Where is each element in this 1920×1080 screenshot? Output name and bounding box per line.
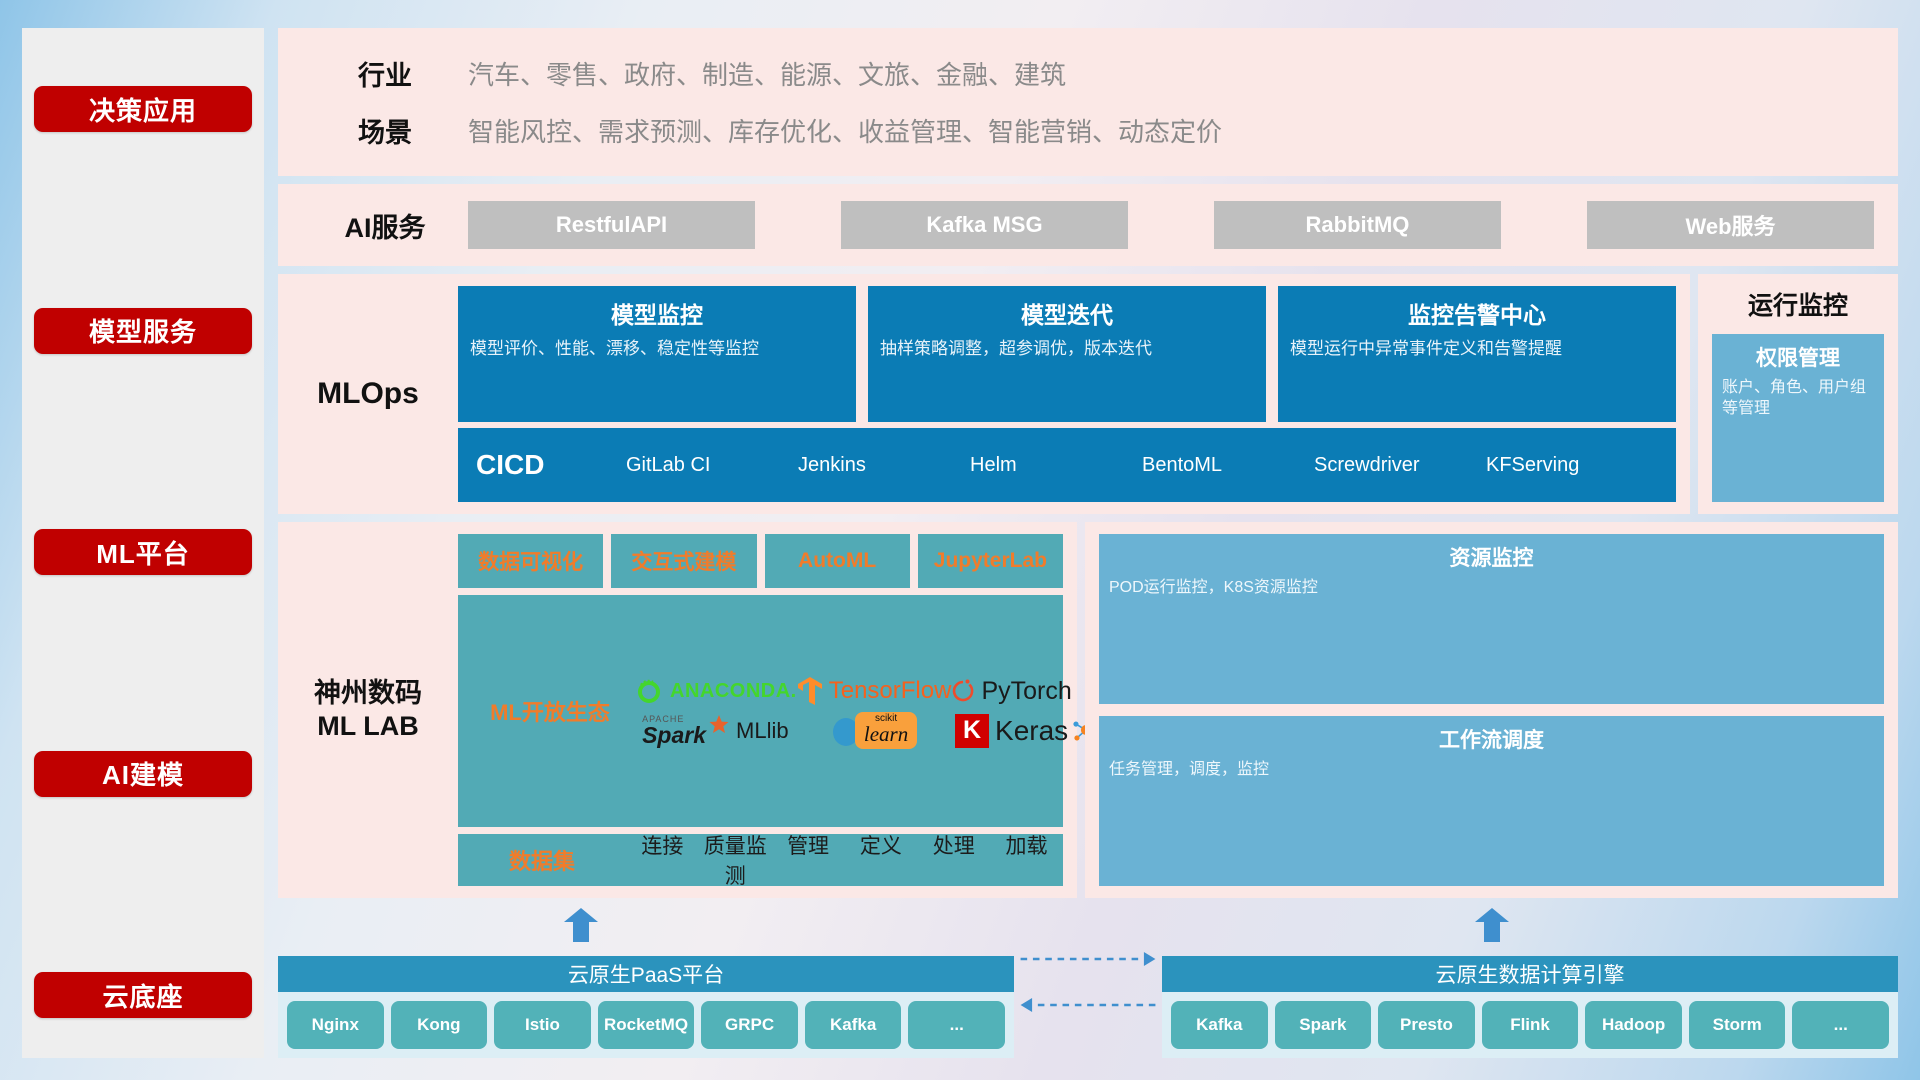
- lab-dataset-items: 连接 质量监测 管理 定义 处理 加载: [626, 830, 1063, 890]
- cloud-link-arrows: [1014, 901, 1162, 1058]
- mlops-card-alert-center[interactable]: 监控告警中心 模型运行中异常事件定义和告警提醒: [1278, 286, 1676, 422]
- lab-ecosystem-logos: ANACONDA. TensorFlow: [634, 671, 1055, 751]
- scikit-learn-logo: scikit learn: [831, 712, 917, 749]
- monitor-card-title: 工作流调度: [1109, 724, 1874, 754]
- lab-dataset-label: 数据集: [458, 844, 626, 876]
- mllib-logo-text: MLlib: [736, 718, 789, 744]
- mlops-body: 模型监控 模型评价、性能、漂移、稳定性等监控 模型迭代 抽样策略调整，超参调优，…: [458, 286, 1676, 502]
- ai-service-chip-kafka-msg[interactable]: Kafka MSG: [841, 201, 1128, 249]
- layer-rail: 决策应用 模型服务 ML平台 AI建模 云底座: [22, 28, 264, 1058]
- app-key-industry: 行业: [302, 54, 468, 93]
- rail-item-ai-modeling[interactable]: AI建模: [34, 751, 252, 797]
- band-mlops-wrapper: MLOps 模型监控 模型评价、性能、漂移、稳定性等监控 模型迭代 抽样策略调整…: [278, 274, 1898, 514]
- mlops-card-model-iteration[interactable]: 模型迭代 抽样策略调整，超参调优，版本迭代: [868, 286, 1266, 422]
- tensorflow-logo-text: TensorFlow: [829, 677, 952, 705]
- pytorch-logo-text: PyTorch: [981, 677, 1071, 706]
- cicd-items: GitLab CI Jenkins Helm BentoML Screwdriv…: [626, 454, 1658, 477]
- compute-chip-storm[interactable]: Storm: [1689, 1001, 1786, 1049]
- tensorflow-logo: TensorFlow: [797, 676, 952, 706]
- rail-item-model-service[interactable]: 模型服务: [34, 308, 252, 354]
- cicd-item-helm[interactable]: Helm: [970, 454, 1142, 477]
- lab-tool-interactive-modeling[interactable]: 交互式建模: [611, 534, 756, 588]
- dataset-item-process[interactable]: 处理: [917, 830, 990, 890]
- ai-service-chip-web-service[interactable]: Web服务: [1587, 201, 1874, 249]
- dataset-item-manage[interactable]: 管理: [772, 830, 845, 890]
- keras-logo-mark: K: [963, 716, 981, 745]
- pytorch-logo: PyTorch: [951, 676, 1071, 706]
- app-key-scenario: 场景: [302, 111, 468, 150]
- cloud-compute-chips: Kafka Spark Presto Flink Hadoop Storm ..…: [1162, 992, 1898, 1058]
- monitor-title: 运行监控: [1712, 286, 1884, 322]
- dataset-item-load[interactable]: 加载: [990, 830, 1063, 890]
- arrow-up-compute-icon: [1475, 908, 1509, 942]
- cloud-chip-kong[interactable]: Kong: [391, 1001, 488, 1049]
- monitor-card-title: 权限管理: [1722, 342, 1874, 372]
- monitor-card-resource[interactable]: 资源监控 POD运行监控，K8S资源监控: [1099, 534, 1884, 704]
- cicd-item-bentoml[interactable]: BentoML: [1142, 454, 1314, 477]
- mlops-card-desc: 模型评价、性能、漂移、稳定性等监控: [470, 338, 844, 360]
- ai-service-chip-rabbitmq[interactable]: RabbitMQ: [1214, 201, 1501, 249]
- dataset-item-quality[interactable]: 质量监测: [699, 830, 772, 890]
- lab-label-line2: ML LAB: [317, 710, 419, 743]
- cloud-paas-title: 云原生PaaS平台: [278, 956, 1014, 992]
- compute-chip-hadoop[interactable]: Hadoop: [1585, 1001, 1682, 1049]
- anaconda-mark-icon: [634, 676, 664, 706]
- band-ai-modeling: 神州数码 ML LAB 数据可视化 交互式建模 AutoML JupyterLa…: [278, 522, 1077, 898]
- lab-tool-automl[interactable]: AutoML: [765, 534, 910, 588]
- cloud-paas-box: 云原生PaaS平台 Nginx Kong Istio RocketMQ GRPC…: [278, 956, 1014, 1058]
- monitor-column-top: 运行监控 权限管理 账户、角色、用户组等管理: [1698, 274, 1898, 514]
- lab-ecosystem: ML开放生态 ANACONDA.: [458, 595, 1063, 827]
- app-row-scenario: 场景 智能风控、需求预测、库存优化、收益管理、智能营销、动态定价: [302, 111, 1874, 150]
- cloud-chip-istio[interactable]: Istio: [494, 1001, 591, 1049]
- cicd-item-gitlab-ci[interactable]: GitLab CI: [626, 454, 798, 477]
- lab-ecosystem-label: ML开放生态: [466, 695, 634, 727]
- lab-label-line1: 神州数码: [314, 677, 422, 710]
- dataset-item-define[interactable]: 定义: [844, 830, 917, 890]
- lab-body: 数据可视化 交互式建模 AutoML JupyterLab ML开放生态: [458, 534, 1063, 886]
- mlops-card-desc: 抽样策略调整，超参调优，版本迭代: [880, 338, 1254, 360]
- keras-mark-icon: K: [955, 714, 989, 748]
- spark-star-icon: [708, 714, 730, 736]
- band-decision-apps: 行业 汽车、零售、政府、制造、能源、文旅、金融、建筑 场景 智能风控、需求预测、…: [278, 28, 1898, 176]
- cicd-item-screwdriver[interactable]: Screwdriver: [1314, 454, 1486, 477]
- monitor-card-desc: POD运行监控，K8S资源监控: [1109, 578, 1874, 599]
- anaconda-logo: ANACONDA.: [634, 676, 797, 706]
- main-column: 行业 汽车、零售、政府、制造、能源、文旅、金融、建筑 场景 智能风控、需求预测、…: [278, 28, 1898, 1058]
- cicd-row: CICD GitLab CI Jenkins Helm BentoML Scre…: [458, 428, 1676, 502]
- anaconda-logo-text: ANACONDA.: [670, 680, 797, 703]
- rail-item-ml-platform[interactable]: ML平台: [34, 529, 252, 575]
- cicd-item-jenkins[interactable]: Jenkins: [798, 454, 970, 477]
- band-lab-wrapper: 神州数码 ML LAB 数据可视化 交互式建模 AutoML JupyterLa…: [278, 522, 1898, 898]
- compute-chip-presto[interactable]: Presto: [1378, 1001, 1475, 1049]
- monitor-card-permission[interactable]: 权限管理 账户、角色、用户组等管理: [1712, 334, 1884, 502]
- ai-service-items: RestfulAPI Kafka MSG RabbitMQ Web服务: [468, 201, 1874, 249]
- cicd-label: CICD: [476, 449, 626, 481]
- cloud-chip-nginx[interactable]: Nginx: [287, 1001, 384, 1049]
- monitor-card-title: 资源监控: [1109, 542, 1874, 572]
- compute-chip-flink[interactable]: Flink: [1482, 1001, 1579, 1049]
- cloud-paas-chips: Nginx Kong Istio RocketMQ GRPC Kafka ...: [278, 992, 1014, 1058]
- lab-dataset-row: 数据集 连接 质量监测 管理 定义 处理 加载: [458, 834, 1063, 886]
- mlops-cards: 模型监控 模型评价、性能、漂移、稳定性等监控 模型迭代 抽样策略调整，超参调优，…: [458, 286, 1676, 422]
- ai-service-label: AI服务: [302, 206, 468, 245]
- lab-tools: 数据可视化 交互式建模 AutoML JupyterLab: [458, 534, 1063, 588]
- ai-service-chip-restfulapi[interactable]: RestfulAPI: [468, 201, 755, 249]
- compute-chip-more[interactable]: ...: [1792, 1001, 1889, 1049]
- cloud-compute-title: 云原生数据计算引擎: [1162, 956, 1898, 992]
- scikit-logo-text: learn: [864, 724, 908, 745]
- cloud-chip-kafka[interactable]: Kafka: [805, 1001, 902, 1049]
- band-mlops: MLOps 模型监控 模型评价、性能、漂移、稳定性等监控 模型迭代 抽样策略调整…: [278, 274, 1690, 514]
- lab-tool-jupyterlab[interactable]: JupyterLab: [918, 534, 1063, 588]
- keras-logo-text: Keras: [995, 715, 1068, 747]
- mlops-label: MLOps: [278, 286, 458, 502]
- mlops-card-title: 监控告警中心: [1290, 296, 1664, 330]
- arrow-up-paas-icon: [564, 908, 598, 942]
- dataset-item-connect[interactable]: 连接: [626, 830, 699, 890]
- app-rows: 行业 汽车、零售、政府、制造、能源、文旅、金融、建筑 场景 智能风控、需求预测、…: [302, 54, 1874, 150]
- lab-label: 神州数码 ML LAB: [278, 534, 458, 886]
- app-row-industry: 行业 汽车、零售、政府、制造、能源、文旅、金融、建筑: [302, 54, 1874, 93]
- app-value-industry: 汽车、零售、政府、制造、能源、文旅、金融、建筑: [468, 55, 1066, 92]
- band-cloud-base: 云原生PaaS平台 Nginx Kong Istio RocketMQ GRPC…: [278, 906, 1898, 1058]
- rail-item-decision-app[interactable]: 决策应用: [34, 86, 252, 132]
- diagram-root: 决策应用 模型服务 ML平台 AI建模 云底座 行业 汽车、零售、政府、制造、能…: [0, 0, 1920, 1080]
- mlops-card-title: 模型监控: [470, 296, 844, 330]
- spark-mllib-logo: APACHE Spark MLlib: [642, 715, 789, 747]
- keras-logo: K Keras: [955, 714, 1068, 748]
- app-value-scenario: 智能风控、需求预测、库存优化、收益管理、智能营销、动态定价: [468, 112, 1222, 149]
- cloud-chip-rocketmq[interactable]: RocketMQ: [598, 1001, 695, 1049]
- compute-chip-kafka[interactable]: Kafka: [1171, 1001, 1268, 1049]
- pytorch-mark-icon: [951, 676, 975, 706]
- cicd-item-kfserving[interactable]: KFServing: [1486, 454, 1658, 477]
- band-ai-service: AI服务 RestfulAPI Kafka MSG RabbitMQ Web服务: [278, 184, 1898, 266]
- cloud-chip-grpc[interactable]: GRPC: [701, 1001, 798, 1049]
- rail-item-cloud-base[interactable]: 云底座: [34, 972, 252, 1018]
- compute-chip-spark[interactable]: Spark: [1275, 1001, 1372, 1049]
- bidirectional-dashed-arrows-icon: [1014, 901, 1162, 1053]
- mlops-card-title: 模型迭代: [880, 296, 1254, 330]
- monitor-card-desc: 任务管理，调度，监控: [1109, 760, 1874, 781]
- lab-tool-data-visualization[interactable]: 数据可视化: [458, 534, 603, 588]
- monitor-card-workflow[interactable]: 工作流调度 任务管理，调度，监控: [1099, 716, 1884, 886]
- mlops-card-model-monitoring[interactable]: 模型监控 模型评价、性能、漂移、稳定性等监控: [458, 286, 856, 422]
- monitor-card-desc: 账户、角色、用户组等管理: [1722, 378, 1874, 420]
- monitor-column-bottom: 资源监控 POD运行监控，K8S资源监控 工作流调度 任务管理，调度，监控: [1085, 522, 1898, 898]
- cloud-chip-more[interactable]: ...: [908, 1001, 1005, 1049]
- tensorflow-mark-icon: [797, 676, 823, 706]
- spark-logo-text: Spark: [642, 724, 706, 747]
- cloud-compute-box: 云原生数据计算引擎 Kafka Spark Presto Flink Hadoo…: [1162, 956, 1898, 1058]
- mlops-card-desc: 模型运行中异常事件定义和告警提醒: [1290, 338, 1664, 360]
